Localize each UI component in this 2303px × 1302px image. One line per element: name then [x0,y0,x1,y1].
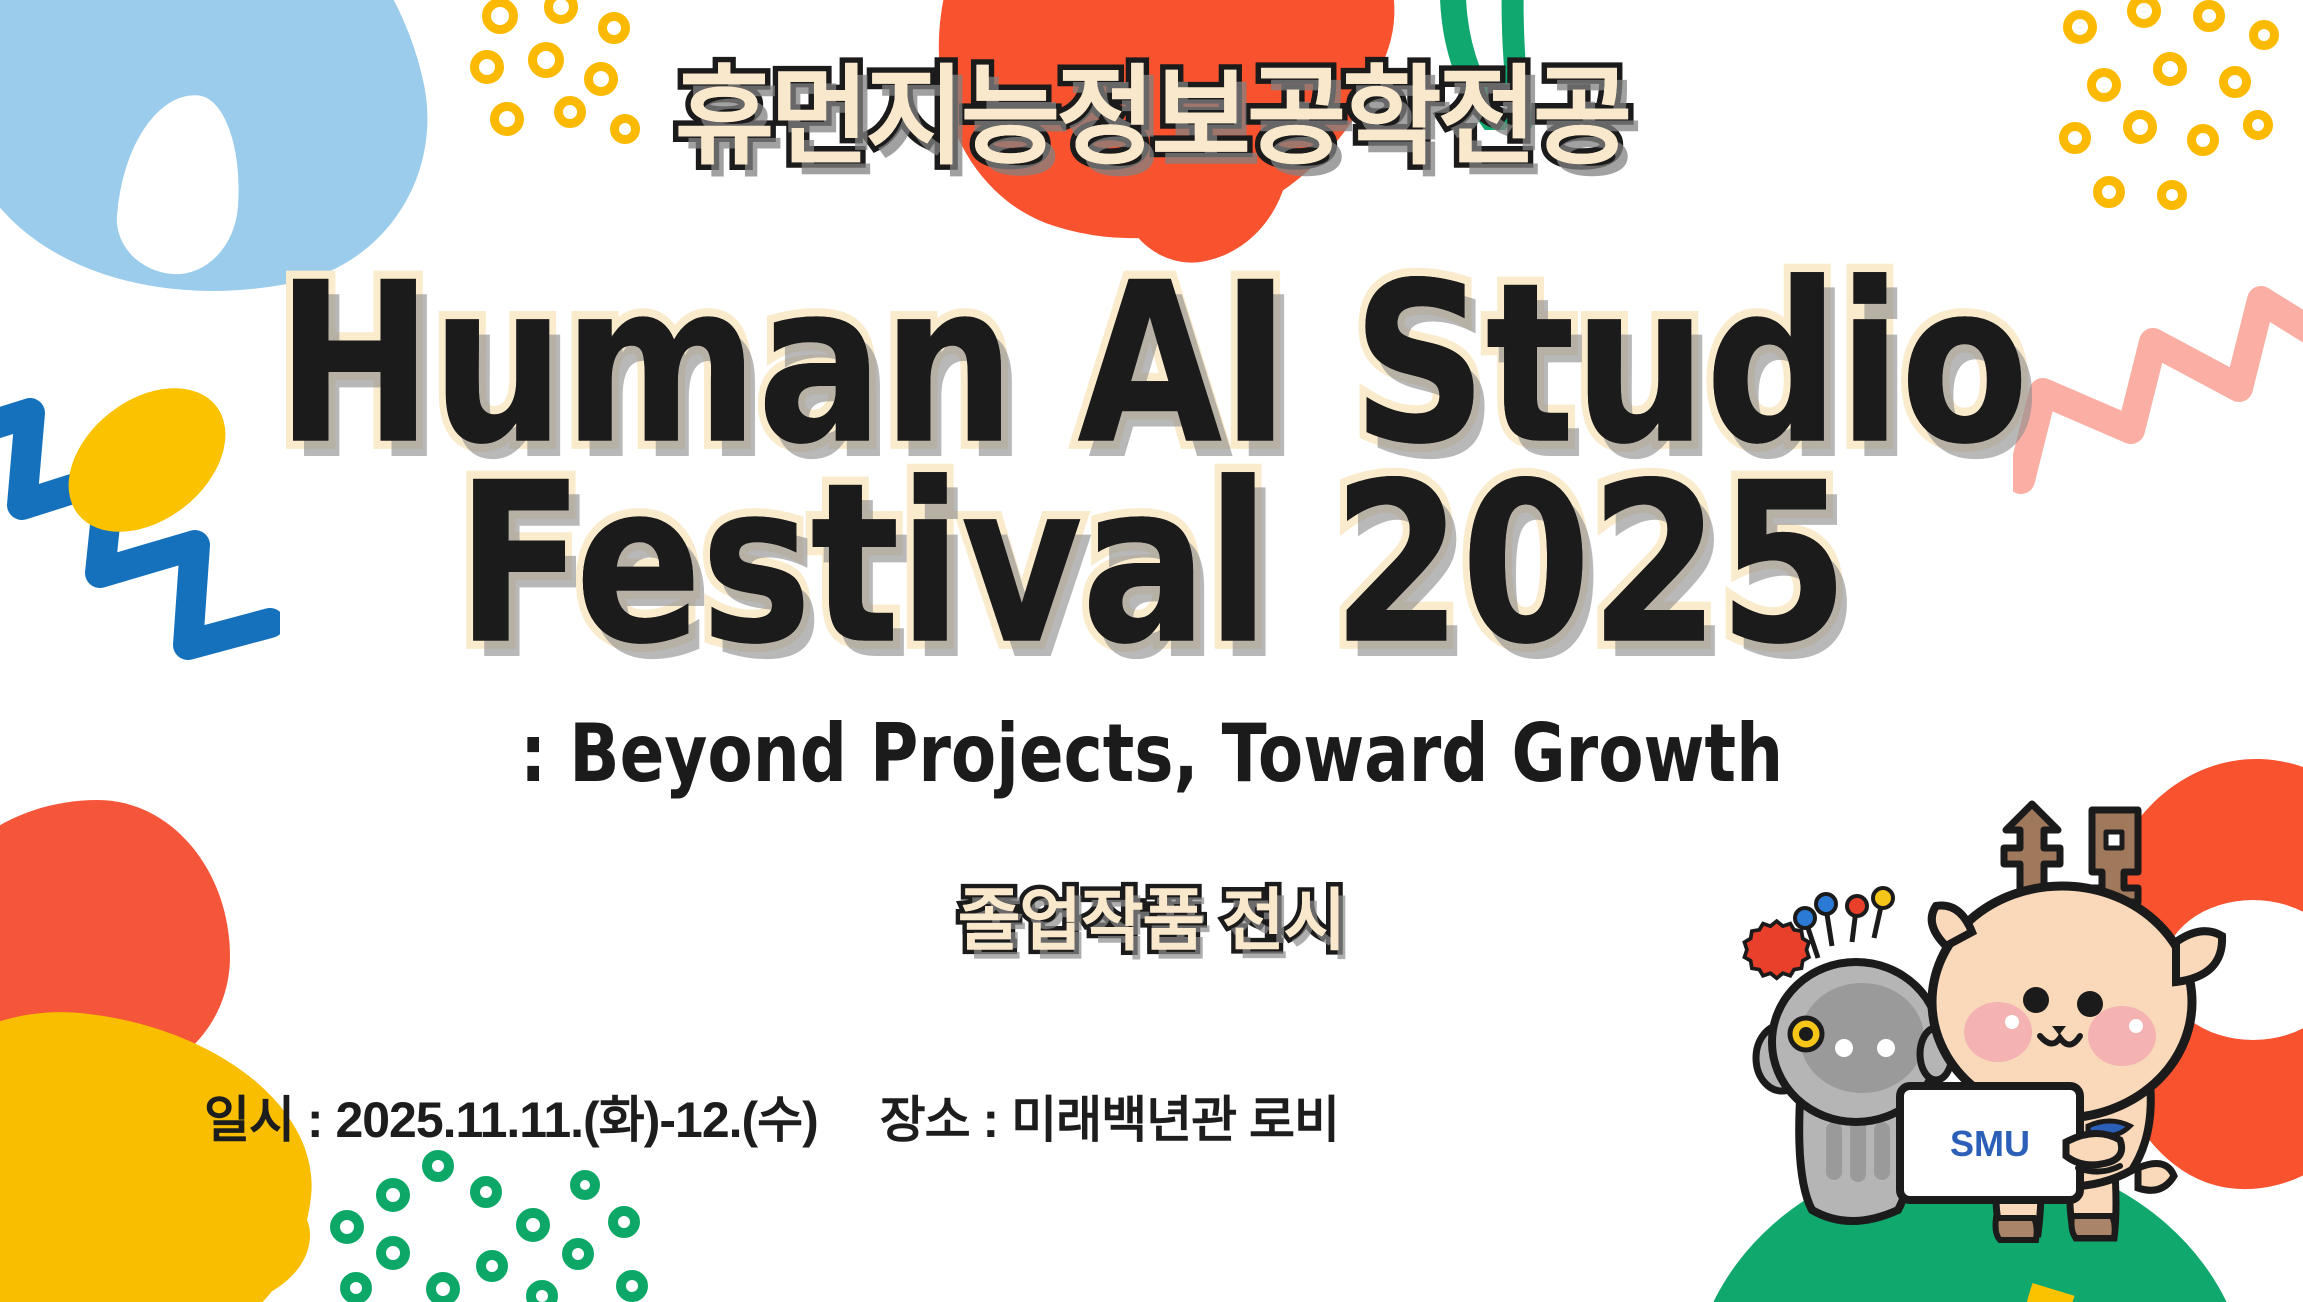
robot-antenna-tip-blue-2 [1816,894,1836,914]
poster-canvas: 휴먼지능정보공학전공 휴먼지능정보공학전공 Human AI Studio Hu… [0,0,2303,1302]
robot-antenna-tip-yellow [1873,888,1893,908]
department-title: 휴먼지능정보공학전공 [0,30,2303,186]
deer-tail [2138,1164,2174,1191]
green-dots-cluster [330,1150,670,1302]
date-value: 2025.11.11.(화)-12.(수) [335,1092,817,1148]
deer-cheek-shine-left [2005,1015,2019,1029]
deer-eye-left [2023,987,2049,1013]
robot-body-stripe-2 [1850,1120,1866,1182]
mascot-illustration-group: SMU [1740,770,2303,1302]
laptop-brand-text: SMU [1950,1123,2030,1164]
event-info-line: 일시 : 2025.11.11.(화)-12.(수) 장소 : 미래백년관 로비 [0,1080,1543,1152]
deer-eye-right [2077,991,2103,1017]
laptop: SMU [1900,1086,2080,1200]
deer-mascot: SMU [1900,804,2222,1240]
place-label: 장소 [880,1092,970,1148]
date-label: 일시 [204,1092,294,1148]
yellow-blob-bottom-left-arm [30,1160,310,1302]
place-value: 미래백년관 로비 [1011,1092,1339,1148]
deer-hoof-back [2072,1216,2115,1238]
robot-eye-left [1835,1039,1853,1057]
robot-antenna-tip-blue-1 [1795,908,1815,928]
deer-ear-right [2176,931,2222,982]
deer-cheek-shine-right [2129,1019,2143,1033]
deer-hoof-front [1996,1218,2037,1240]
robot-body-stripe-1 [1826,1122,1842,1180]
robot-eye-right [1877,1039,1895,1057]
main-title-line2: Festival 2025 [0,435,2303,693]
robot-body-stripe-3 [1874,1122,1890,1180]
deer-cheek-left [1964,1002,2032,1062]
deer-paw [2066,1133,2122,1164]
deer-cheek-right [2088,1006,2156,1066]
date-separator: : [307,1092,323,1148]
robot-antenna-tip-red [1847,896,1867,916]
place-separator: : [983,1092,999,1148]
